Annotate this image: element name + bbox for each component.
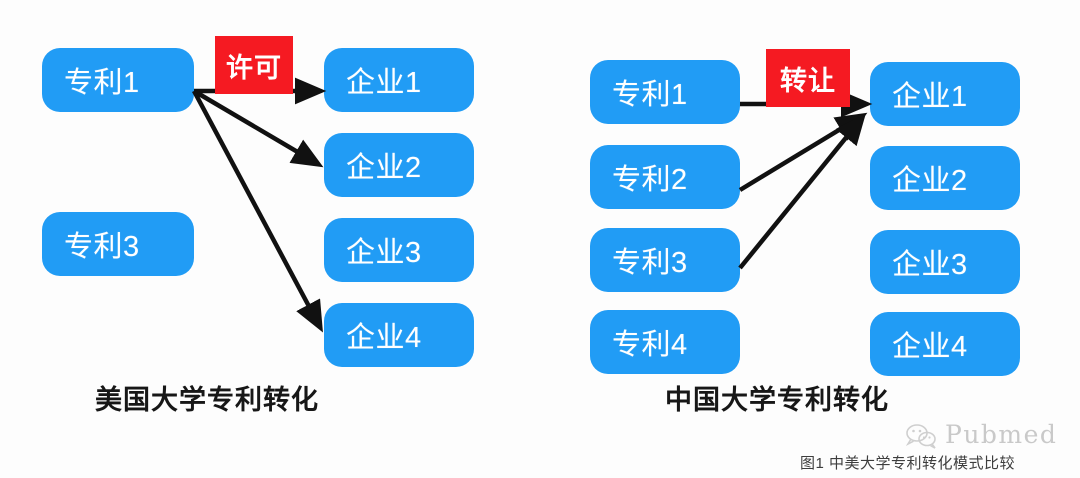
node-label: 专利3 (64, 223, 140, 265)
node-label: 企业3 (346, 229, 422, 271)
node-cn-patent-1[interactable]: 专利1 (590, 60, 740, 124)
diagram-canvas: 专利1 专利3 许可 企业1 企业2 企业3 企业4 美国大学专利转化 专利1 … (0, 0, 1080, 478)
edge-label-us-license: 许可 (215, 36, 293, 94)
node-label: 企业2 (346, 144, 422, 186)
edge-cn-patent3-to-company1 (740, 118, 862, 268)
node-label: 专利2 (612, 156, 688, 198)
node-label: 企业4 (892, 323, 968, 365)
node-cn-company-3[interactable]: 企业3 (870, 230, 1020, 294)
panel-title-cn: 中国大学专利转化 (665, 378, 889, 417)
node-label: 企业1 (346, 59, 422, 101)
node-us-company-3[interactable]: 企业3 (324, 218, 474, 282)
node-cn-company-4[interactable]: 企业4 (870, 312, 1020, 376)
node-us-patent-1[interactable]: 专利1 (42, 48, 194, 112)
node-cn-patent-4[interactable]: 专利4 (590, 310, 740, 374)
node-label: 企业1 (892, 73, 968, 115)
node-us-patent-3[interactable]: 专利3 (42, 212, 194, 276)
wechat-logo-icon (905, 423, 939, 449)
node-cn-company-1[interactable]: 企业1 (870, 62, 1020, 126)
node-label: 专利1 (64, 59, 140, 101)
node-label: 专利1 (612, 71, 688, 113)
edge-cn-patent2-to-company1 (740, 116, 862, 190)
node-us-company-1[interactable]: 企业1 (324, 48, 474, 112)
node-label: 企业4 (346, 314, 422, 356)
edge-label-text: 转让 (780, 59, 836, 98)
figure-caption: 图1 中美大学专利转化模式比较 (800, 452, 1015, 473)
node-cn-company-2[interactable]: 企业2 (870, 146, 1020, 210)
edge-label-text: 许可 (226, 46, 282, 85)
node-label: 专利3 (612, 239, 688, 281)
node-label: 企业3 (892, 241, 968, 283)
edge-us-patent1-to-company4 (194, 91, 320, 327)
node-us-company-2[interactable]: 企业2 (324, 133, 474, 197)
watermark-text: Pubmed (945, 420, 1057, 449)
edge-label-cn-transfer: 转让 (766, 49, 850, 107)
node-cn-patent-2[interactable]: 专利2 (590, 145, 740, 209)
panel-title-us: 美国大学专利转化 (95, 378, 319, 417)
node-label: 专利4 (612, 321, 688, 363)
node-label: 企业2 (892, 157, 968, 199)
node-cn-patent-3[interactable]: 专利3 (590, 228, 740, 292)
edge-us-patent1-to-company2 (194, 91, 318, 164)
node-us-company-4[interactable]: 企业4 (324, 303, 474, 367)
